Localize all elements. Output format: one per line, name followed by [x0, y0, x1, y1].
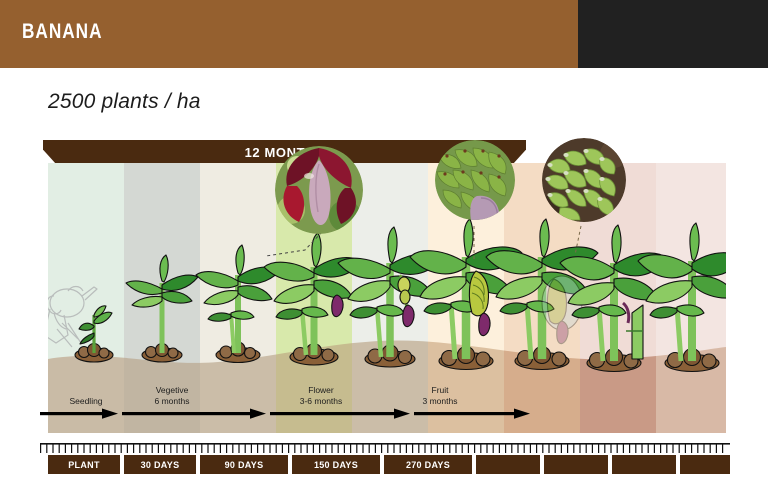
timeline-segment-150-days[interactable]: 150 DAYS — [292, 455, 380, 474]
stage-label-fruit-name: Fruit — [400, 385, 480, 396]
timeline-ruler — [40, 443, 730, 455]
plant-stage-3 — [196, 245, 280, 363]
timeline-segment-plant[interactable]: PLANT — [48, 455, 120, 474]
plant-stage-2 — [126, 255, 198, 362]
banana-flower-photo[interactable] — [275, 146, 363, 234]
stage-label-flower-duration: 3-6 months — [276, 396, 366, 407]
ripe-bunch-photo[interactable] — [542, 138, 626, 222]
timeline-segment-9[interactable] — [680, 455, 730, 474]
stage-label-seedling: Seedling — [48, 396, 124, 407]
flower-bud — [403, 305, 414, 327]
stage-label-seedling-name: Seedling — [48, 396, 124, 407]
timeline-segment-270-days[interactable]: 270 DAYS — [384, 455, 472, 474]
stage-arrows — [40, 408, 532, 420]
stage-label-fruit: Fruit 3 months — [400, 385, 480, 407]
page-title: BANANA — [22, 20, 103, 44]
timeline-segment-30-days[interactable]: 30 DAYS — [124, 455, 196, 474]
stage-label-fruit-duration: 3 months — [400, 396, 480, 407]
stage-label-flower: Flower 3-6 months — [276, 385, 366, 407]
cut-stem — [632, 305, 643, 359]
stage-label-vegetive-duration: 6 months — [134, 396, 210, 407]
header-bar: BANANA — [0, 0, 768, 68]
flower-bract — [400, 290, 410, 304]
stage-label-vegetive-name: Vegetive — [134, 385, 210, 396]
timeline-segment-label: 30 DAYS — [141, 460, 180, 470]
infographic-page: BANANA 2500 plants / ha 12 MONTHS — [0, 0, 768, 495]
timeline-segment-90-days[interactable]: 90 DAYS — [200, 455, 288, 474]
timeline-segment-8[interactable] — [612, 455, 676, 474]
timeline-segments: PLANT 30 DAYS 90 DAYS 150 DAYS 270 DAYS — [40, 455, 730, 474]
planting-density-label: 2500 plants / ha — [48, 90, 201, 114]
timeline-segment-6[interactable] — [476, 455, 540, 474]
timeline-segment-label: PLANT — [68, 460, 100, 470]
timeline-segment-label: 270 DAYS — [406, 460, 450, 470]
flower-bud — [479, 313, 490, 336]
plant-seedling — [75, 306, 113, 362]
stage-label-flower-name: Flower — [276, 385, 366, 396]
stage-label-vegetive: Vegetive 6 months — [134, 385, 210, 407]
flower-bud — [332, 295, 343, 317]
timeline-segment-7[interactable] — [544, 455, 608, 474]
timeline-segment-label: 90 DAYS — [225, 460, 264, 470]
timeline-segment-label: 150 DAYS — [314, 460, 358, 470]
young-fruit-photo[interactable] — [435, 140, 515, 220]
